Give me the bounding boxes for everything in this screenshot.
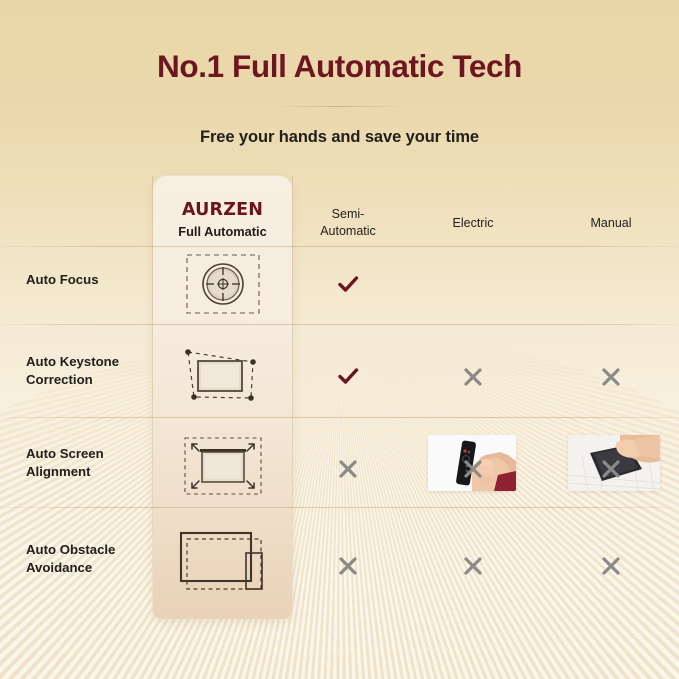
column-label-manual: Manual <box>556 215 666 232</box>
column-label-semi-line1: Semi- <box>293 206 403 223</box>
auto-focus-icon <box>153 253 292 320</box>
cell-alignment-electric: ✖ <box>418 458 528 485</box>
page-title: No.1 Full Automatic Tech <box>0 48 679 85</box>
check-icon <box>335 271 361 297</box>
column-label-electric: Electric <box>418 215 528 232</box>
auto-keystone-icon-svg <box>181 344 265 406</box>
cell-obstacle-semi: ✖ <box>293 555 403 582</box>
row-label-alignment-line2: Alignment <box>26 463 154 481</box>
row-label-auto-obstacle-avoidance: Auto Obstacle Avoidance <box>26 541 154 577</box>
cell-alignment-semi: ✖ <box>293 458 403 485</box>
page-subtitle: Free your hands and save your time <box>0 128 679 147</box>
cell-alignment-manual: ✖ <box>556 458 666 485</box>
cross-icon <box>600 555 622 577</box>
column-label-semi-line2: Automatic <box>293 223 403 240</box>
auto-focus-icon-svg <box>185 253 261 315</box>
row-label-keystone-line2: Correction <box>26 371 154 389</box>
auto-obstacle-avoidance-icon-svg <box>175 527 271 597</box>
cell-obstacle-manual: ✖ <box>556 555 666 582</box>
cross-icon <box>337 458 359 480</box>
auto-keystone-icon <box>153 344 292 411</box>
row-label-auto-focus: Auto Focus <box>26 271 154 289</box>
cell-keystone-electric: ✖ <box>418 366 528 393</box>
cross-icon <box>600 366 622 388</box>
cell-keystone-semi: ✔ <box>293 363 403 394</box>
cross-icon <box>462 366 484 388</box>
cross-icon <box>600 458 622 480</box>
cell-obstacle-electric: ✖ <box>418 555 528 582</box>
row-label-keystone-line1: Auto Keystone <box>26 353 154 371</box>
auto-screen-alignment-icon-svg <box>183 435 263 497</box>
cell-keystone-manual: ✖ <box>556 366 666 393</box>
cross-icon <box>337 555 359 577</box>
auto-screen-alignment-icon <box>153 435 292 502</box>
column-divider-right <box>292 176 293 619</box>
row-label-obstacle-line2: Avoidance <box>26 559 154 577</box>
row-divider-2 <box>0 417 679 418</box>
column-header-aurzen: AURZEN Full Automatic <box>153 200 292 239</box>
cross-icon <box>462 458 484 480</box>
column-label-aurzen: Full Automatic <box>153 224 292 239</box>
column-header-electric: Electric <box>418 215 528 232</box>
column-header-manual: Manual <box>556 215 666 232</box>
row-label-obstacle-line1: Auto Obstacle <box>26 541 154 559</box>
row-divider-header <box>0 246 679 247</box>
row-divider-3 <box>0 507 679 508</box>
title-divider <box>273 106 406 107</box>
row-label-auto-screen-alignment: Auto Screen Alignment <box>26 445 154 481</box>
comparison-infographic: No.1 Full Automatic Tech Free your hands… <box>0 0 679 679</box>
cross-icon <box>462 555 484 577</box>
row-divider-1 <box>0 324 679 325</box>
auto-obstacle-avoidance-icon <box>153 527 292 602</box>
cell-auto-focus-semi: ✔ <box>293 271 403 302</box>
row-label-alignment-line1: Auto Screen <box>26 445 154 463</box>
check-icon <box>335 363 361 389</box>
row-label-auto-focus-line1: Auto Focus <box>26 271 154 289</box>
row-label-auto-keystone-correction: Auto Keystone Correction <box>26 353 154 389</box>
comparison-table: AURZEN Full Automatic Semi- Automatic El… <box>0 176 679 619</box>
column-header-semi-automatic: Semi- Automatic <box>293 206 403 240</box>
aurzen-logo: AURZEN <box>153 200 292 220</box>
